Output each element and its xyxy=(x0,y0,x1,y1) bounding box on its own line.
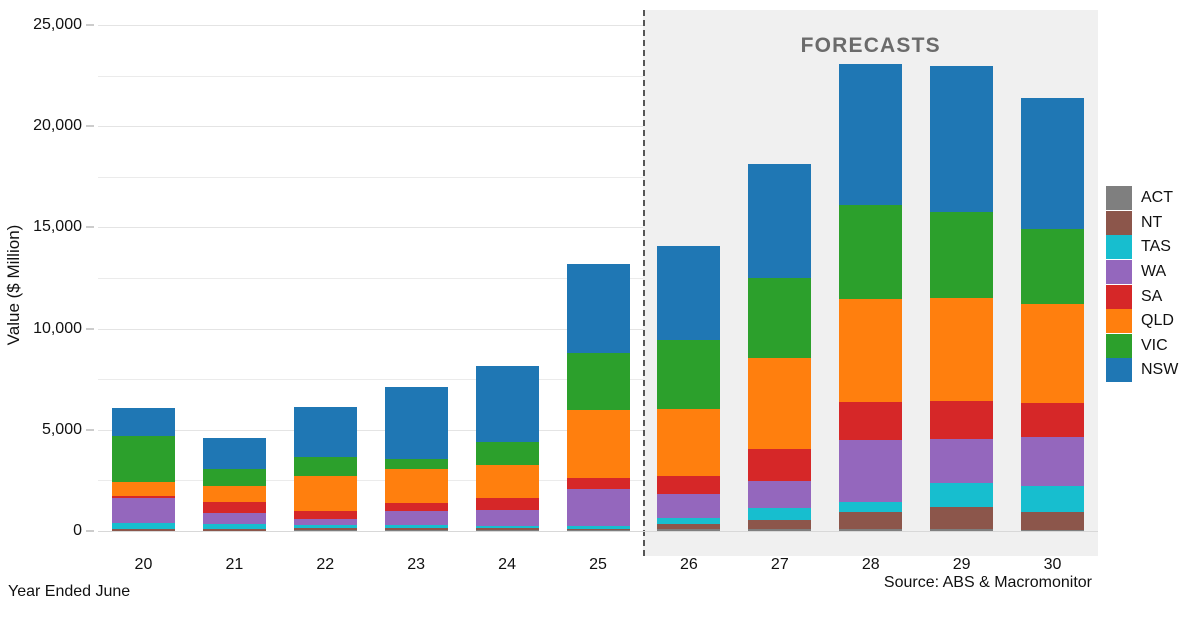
x-tick-label: 30 xyxy=(1044,556,1062,574)
bar-segment-tas[interactable] xyxy=(112,523,175,529)
y-tick-mark xyxy=(86,429,94,430)
legend-item-vic[interactable]: VIC xyxy=(1106,334,1198,359)
bar-segment-nsw[interactable] xyxy=(1021,98,1084,229)
bar-segment-qld[interactable] xyxy=(657,409,720,476)
legend-swatch-nt xyxy=(1106,211,1132,235)
x-tick-label: 28 xyxy=(862,556,880,574)
bar[interactable] xyxy=(476,366,539,531)
bar-segment-nt[interactable] xyxy=(1021,512,1084,530)
bar-segment-sa[interactable] xyxy=(1021,403,1084,437)
bar-segment-wa[interactable] xyxy=(748,481,811,507)
bar[interactable] xyxy=(839,64,902,531)
bar-segment-qld[interactable] xyxy=(203,486,266,502)
bar[interactable] xyxy=(930,66,993,531)
legend-item-nt[interactable]: NT xyxy=(1106,211,1198,236)
legend-label: ACT xyxy=(1141,189,1173,207)
x-tick-label: 29 xyxy=(953,556,971,574)
y-tick-label: 5,000 xyxy=(0,421,82,439)
bar-segment-vic[interactable] xyxy=(385,459,448,469)
bar-segment-nsw[interactable] xyxy=(839,64,902,205)
bar-segment-nsw[interactable] xyxy=(385,387,448,459)
bar-segment-vic[interactable] xyxy=(203,469,266,486)
bar-segment-tas[interactable] xyxy=(839,502,902,512)
bar-segment-tas[interactable] xyxy=(1021,486,1084,512)
bar-segment-nsw[interactable] xyxy=(476,366,539,442)
bar-segment-sa[interactable] xyxy=(567,478,630,489)
bar-segment-vic[interactable] xyxy=(476,442,539,465)
bar-segment-wa[interactable] xyxy=(567,489,630,527)
x-axis-title: Year Ended June xyxy=(8,583,130,601)
bar[interactable] xyxy=(203,438,266,531)
y-tick-label: 15,000 xyxy=(0,218,82,236)
bar-segment-tas[interactable] xyxy=(294,525,357,528)
bar-segment-tas[interactable] xyxy=(476,526,539,528)
bar-segment-nsw[interactable] xyxy=(567,264,630,353)
y-tick-label: 25,000 xyxy=(0,16,82,34)
bar-segment-vic[interactable] xyxy=(748,278,811,358)
legend-swatch-vic xyxy=(1106,334,1132,358)
plot-area: FORECASTS xyxy=(98,10,1098,545)
legend-swatch-tas xyxy=(1106,235,1132,259)
bar-segment-qld[interactable] xyxy=(476,465,539,498)
bar-segment-nsw[interactable] xyxy=(748,164,811,278)
bar-segment-nt[interactable] xyxy=(748,520,811,529)
bar-segment-tas[interactable] xyxy=(930,483,993,508)
bar[interactable] xyxy=(294,407,357,531)
bar-segment-nsw[interactable] xyxy=(657,246,720,340)
bar-segment-wa[interactable] xyxy=(476,510,539,526)
x-tick-label: 21 xyxy=(225,556,243,574)
bar-segment-sa[interactable] xyxy=(203,502,266,513)
legend-swatch-wa xyxy=(1106,260,1132,284)
bar-segment-vic[interactable] xyxy=(930,212,993,298)
bar-segment-vic[interactable] xyxy=(839,205,902,299)
bar-segment-nt[interactable] xyxy=(839,512,902,529)
bar-segment-nsw[interactable] xyxy=(112,408,175,436)
legend-label: QLD xyxy=(1141,312,1174,330)
bar-segment-nt[interactable] xyxy=(476,528,539,530)
bar-segment-wa[interactable] xyxy=(1021,437,1084,486)
y-tick-mark xyxy=(86,25,94,26)
bar-segment-nsw[interactable] xyxy=(294,407,357,457)
bar-segment-wa[interactable] xyxy=(112,498,175,523)
x-tick-label: 20 xyxy=(135,556,153,574)
y-tick-label: 0 xyxy=(0,522,82,540)
bar-segment-qld[interactable] xyxy=(567,410,630,478)
bar-segment-wa[interactable] xyxy=(657,494,720,518)
bar-segment-sa[interactable] xyxy=(839,402,902,440)
bar-segment-wa[interactable] xyxy=(385,511,448,525)
bar[interactable] xyxy=(385,387,448,531)
legend-label: WA xyxy=(1141,263,1166,281)
bar-segment-sa[interactable] xyxy=(294,511,357,519)
x-tick-label: 23 xyxy=(407,556,425,574)
bar-segment-nt[interactable] xyxy=(294,528,357,530)
bar-segment-qld[interactable] xyxy=(112,482,175,496)
bar-segment-tas[interactable] xyxy=(748,508,811,521)
bar-segment-vic[interactable] xyxy=(657,340,720,409)
legend: ACTNTTASWASAQLDVICNSW xyxy=(1106,186,1198,383)
legend-swatch-nsw xyxy=(1106,358,1132,382)
legend-label: VIC xyxy=(1141,337,1168,355)
bar-segment-sa[interactable] xyxy=(657,476,720,494)
bar-segment-wa[interactable] xyxy=(203,513,266,524)
bar-segment-qld[interactable] xyxy=(839,299,902,402)
y-tick-label: 10,000 xyxy=(0,320,82,338)
bar-segment-nt[interactable] xyxy=(385,528,448,530)
bar-segment-nt[interactable] xyxy=(657,524,720,529)
bar-segment-nsw[interactable] xyxy=(930,66,993,212)
legend-item-act[interactable]: ACT xyxy=(1106,186,1198,211)
bar-segment-tas[interactable] xyxy=(567,526,630,528)
bar-segment-tas[interactable] xyxy=(203,524,266,529)
legend-label: SA xyxy=(1141,288,1162,306)
legend-label: NSW xyxy=(1141,361,1178,379)
bar-segment-vic[interactable] xyxy=(1021,229,1084,304)
bar[interactable] xyxy=(1021,98,1084,531)
bar-segment-qld[interactable] xyxy=(1021,304,1084,403)
bar-segment-qld[interactable] xyxy=(385,469,448,503)
y-tick-mark xyxy=(86,126,94,127)
legend-item-sa[interactable]: SA xyxy=(1106,284,1198,309)
x-tick-label: 25 xyxy=(589,556,607,574)
source-note: Source: ABS & Macromonitor xyxy=(884,574,1092,592)
zero-axis-line xyxy=(98,531,1098,532)
forecast-divider-line xyxy=(643,10,645,556)
bar-segment-sa[interactable] xyxy=(476,498,539,510)
bar-segment-sa[interactable] xyxy=(930,401,993,439)
bar-segment-wa[interactable] xyxy=(930,439,993,482)
bar-segment-tas[interactable] xyxy=(657,518,720,523)
bar-segment-sa[interactable] xyxy=(112,496,175,498)
y-tick-mark xyxy=(86,328,94,329)
bar[interactable] xyxy=(112,408,175,531)
y-tick-mark xyxy=(86,531,94,532)
y-tick-label: 20,000 xyxy=(0,117,82,135)
forecast-region-label: FORECASTS xyxy=(801,34,941,58)
bar[interactable] xyxy=(657,246,720,531)
bar-segment-nt[interactable] xyxy=(930,507,993,529)
bar-segment-qld[interactable] xyxy=(748,358,811,449)
bar-segment-nsw[interactable] xyxy=(203,438,266,469)
legend-item-nsw[interactable]: NSW xyxy=(1106,358,1198,383)
legend-item-qld[interactable]: QLD xyxy=(1106,309,1198,334)
bar-segment-tas[interactable] xyxy=(385,525,448,528)
legend-label: NT xyxy=(1141,214,1162,232)
stacked-bar-chart: Value ($ Million) 05,00010,00015,00020,0… xyxy=(0,0,1200,630)
x-tick-label: 27 xyxy=(771,556,789,574)
x-tick-label: 24 xyxy=(498,556,516,574)
bar-segment-sa[interactable] xyxy=(385,503,448,511)
x-tick-label: 26 xyxy=(680,556,698,574)
bar-segment-wa[interactable] xyxy=(294,519,357,525)
bar-segment-wa[interactable] xyxy=(839,440,902,502)
bar-segment-sa[interactable] xyxy=(748,449,811,481)
bar-segment-vic[interactable] xyxy=(294,457,357,476)
legend-item-tas[interactable]: TAS xyxy=(1106,235,1198,260)
bar[interactable] xyxy=(567,264,630,531)
bar-segment-qld[interactable] xyxy=(294,476,357,511)
bar[interactable] xyxy=(748,164,811,531)
legend-label: TAS xyxy=(1141,238,1171,256)
bar-segment-vic[interactable] xyxy=(567,353,630,410)
bar-segment-qld[interactable] xyxy=(930,298,993,401)
bar-segment-vic[interactable] xyxy=(112,436,175,482)
legend-item-wa[interactable]: WA xyxy=(1106,260,1198,285)
x-tick-label: 22 xyxy=(316,556,334,574)
legend-swatch-qld xyxy=(1106,309,1132,333)
legend-swatch-sa xyxy=(1106,285,1132,309)
y-tick-mark xyxy=(86,227,94,228)
legend-swatch-act xyxy=(1106,186,1132,210)
